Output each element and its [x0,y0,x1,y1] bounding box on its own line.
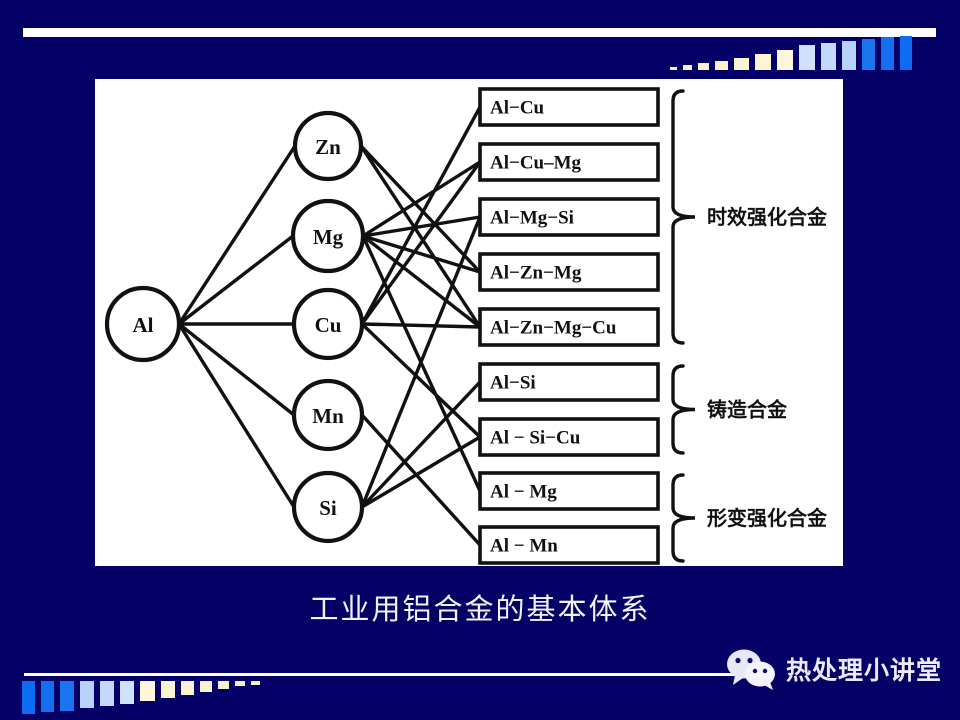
decoration-bar [100,681,114,706]
decoration-bar [181,681,194,695]
decoration-bar [734,58,749,70]
decoration-bar [777,50,793,70]
decoration-bar [683,65,692,70]
slide-caption: 工业用铝合金的基本体系 [0,586,960,628]
decoration-bar [670,67,677,70]
decoration-bar [120,681,134,704]
diagram-edge [362,437,480,507]
top-bar-decoration [670,36,940,70]
element-node-label: Zn [315,135,341,159]
diagram-edge [179,146,295,324]
element-node-layer: AlZnMgCuMnSi [107,113,363,541]
decoration-bar [218,681,229,689]
element-node-label: Si [319,496,337,520]
watermark: 热处理小讲堂 [726,648,942,690]
decoration-bar [842,41,856,70]
diagram-edge [179,236,293,324]
decoration-bar [900,36,912,70]
decoration-bar [41,681,54,712]
diagram-edge [362,382,480,507]
alloy-box-label: Al − Mg [490,482,557,503]
wechat-icon [726,648,778,690]
decoration-bar [251,681,260,685]
diagram-edge [363,236,480,327]
bottom-bar-decoration [22,681,302,714]
element-node-label: Cu [315,313,342,337]
alloy-box-label: Al−Cu [490,98,545,119]
decoration-bar [60,681,74,711]
element-node-label: Mg [313,225,344,249]
alloy-box-label: Al − Si−Cu [490,428,581,449]
alloy-box-label: Al−Zn−Mg [490,263,582,284]
group-brace [673,366,695,453]
element-node-label: Mn [312,404,344,428]
diagram-edge [362,107,480,324]
decoration-bar [799,45,815,70]
alloy-box-label: Al−Mg−Si [490,208,574,229]
decoration-bar [22,681,35,714]
decoration-bar [235,681,245,686]
alloy-box-label: Al−Cu–Mg [490,153,582,174]
diagram-edge [362,217,480,507]
decoration-bar [862,39,875,70]
watermark-text: 热处理小讲堂 [786,651,942,687]
group-label: 形变强化合金 [707,506,828,530]
group-brace [673,91,695,343]
decoration-bar [755,54,771,70]
element-node-label: Al [133,313,154,337]
figure-panel: Al−CuAl−Cu–MgAl−Mg−SiAl−Zn−MgAl−Zn−Mg−Cu… [95,79,843,566]
group-label: 时效强化合金 [707,205,828,229]
group-label: 铸造合金 [707,398,788,422]
diagram-edge [179,324,294,507]
decoration-bar [821,43,836,70]
diagram-edge [362,324,480,437]
bottom-accent-rule [24,673,774,676]
diagram-edge [179,324,294,415]
decoration-bar [161,681,175,698]
group-brace-layer: 时效强化合金铸造合金形变强化合金 [673,91,828,561]
decoration-bar [140,681,155,701]
alloy-box-label: Al−Si [490,373,536,394]
decoration-bar [715,61,728,70]
alloy-box-layer: Al−CuAl−Cu–MgAl−Mg−SiAl−Zn−MgAl−Zn−Mg−Cu… [480,89,658,563]
alloy-box-label: Al−Zn−Mg−Cu [490,318,617,339]
alloy-box-label: Al − Mn [490,536,558,557]
decoration-bar [80,681,94,708]
alloy-system-diagram: Al−CuAl−Cu–MgAl−Mg−SiAl−Zn−MgAl−Zn−Mg−Cu… [95,79,843,566]
decoration-bar [698,63,709,70]
decoration-bar [881,37,894,70]
decoration-bar [200,681,212,692]
group-brace [673,475,695,561]
diagram-edge [362,324,480,327]
diagram-edge [362,415,480,545]
